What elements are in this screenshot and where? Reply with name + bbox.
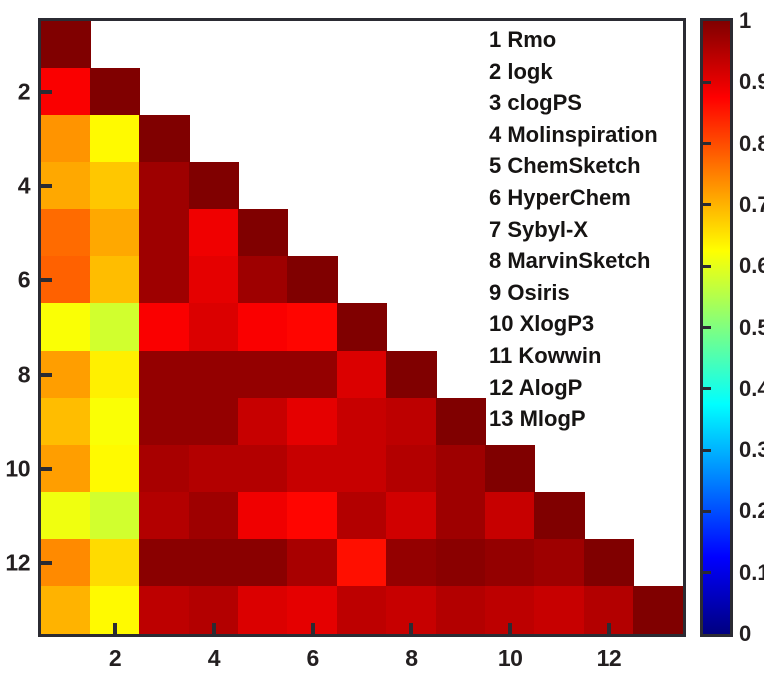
legend-item: 10 XlogP3 xyxy=(489,308,689,340)
colorbar-tick-label: 0.4 xyxy=(739,376,764,402)
heatmap-cell xyxy=(238,398,288,446)
legend-item: 2 logk xyxy=(489,56,689,88)
heatmap-cell xyxy=(436,398,486,446)
legend-item: 6 HyperChem xyxy=(489,182,689,214)
heatmap-cell xyxy=(139,162,189,210)
heatmap-cell xyxy=(337,303,387,351)
y-axis-tick-label: 4 xyxy=(18,173,30,200)
heatmap-cell xyxy=(189,492,239,540)
legend-item: 9 Osiris xyxy=(489,277,689,309)
y-axis-tick-label: 12 xyxy=(5,550,30,577)
colorbar-tick-label: 1 xyxy=(739,8,751,34)
legend-item: 8 MarvinSketch xyxy=(489,245,689,277)
legend-item: 7 Sybyl-X xyxy=(489,214,689,246)
heatmap-cell xyxy=(90,162,140,210)
heatmap-cell xyxy=(90,351,140,399)
heatmap-cell xyxy=(337,351,387,399)
heatmap-cell xyxy=(41,209,91,257)
heatmap-cell xyxy=(287,351,337,399)
colorbar-tick xyxy=(703,326,711,329)
heatmap-cell xyxy=(139,351,189,399)
heatmap-cell xyxy=(436,586,486,634)
heatmap-cell xyxy=(41,21,91,69)
legend-list: 1 Rmo2 logk3 clogPS4 Molinspiration5 Che… xyxy=(489,24,689,435)
x-axis-tick-label: 8 xyxy=(405,645,417,672)
heatmap-cell xyxy=(485,539,535,587)
colorbar-tick xyxy=(703,510,711,513)
heatmap-cell xyxy=(238,303,288,351)
heatmap-cell xyxy=(238,586,288,634)
heatmap-cell xyxy=(386,492,436,540)
heatmap-cell xyxy=(41,303,91,351)
y-axis-tick-label: 6 xyxy=(18,267,30,294)
heatmap-cell xyxy=(139,539,189,587)
heatmap-cell xyxy=(436,539,486,587)
y-axis-tick-label: 2 xyxy=(18,78,30,105)
colorbar-tick-label: 0.1 xyxy=(739,560,764,586)
colorbar-tick-label: 0.3 xyxy=(739,437,764,463)
legend-item: 1 Rmo xyxy=(489,24,689,56)
heatmap-cell xyxy=(485,492,535,540)
heatmap-cell xyxy=(189,539,239,587)
y-axis-tick-label: 10 xyxy=(5,455,30,482)
heatmap-cell xyxy=(534,492,584,540)
heatmap-figure: 24681012 24681012 1 Rmo2 logk3 clogPS4 M… xyxy=(0,0,764,682)
heatmap-cell xyxy=(139,209,189,257)
colorbar-tick-label: 0.9 xyxy=(739,69,764,95)
heatmap-cell xyxy=(238,351,288,399)
heatmap-cell xyxy=(189,303,239,351)
heatmap-cell xyxy=(238,492,288,540)
heatmap-cell xyxy=(287,303,337,351)
colorbar-tick xyxy=(703,449,711,452)
heatmap-cell xyxy=(337,445,387,493)
colorbar-tick-label: 0.6 xyxy=(739,253,764,279)
heatmap-cell xyxy=(90,303,140,351)
heatmap-cell xyxy=(238,539,288,587)
heatmap-cell xyxy=(534,539,584,587)
heatmap-cell xyxy=(633,586,683,634)
legend-item: 5 ChemSketch xyxy=(489,150,689,182)
heatmap-cell xyxy=(337,492,387,540)
heatmap-cell xyxy=(238,445,288,493)
heatmap-cell xyxy=(238,256,288,304)
colorbar-tick xyxy=(703,571,711,574)
heatmap-cell xyxy=(41,492,91,540)
heatmap-cell xyxy=(90,398,140,446)
colorbar-tick-label: 0.7 xyxy=(739,192,764,218)
legend-item: 3 clogPS xyxy=(489,87,689,119)
heatmap-cell xyxy=(337,539,387,587)
heatmap-cell xyxy=(287,256,337,304)
heatmap-cell xyxy=(584,539,634,587)
colorbar-tick xyxy=(703,81,711,84)
y-axis-tick-label: 8 xyxy=(18,361,30,388)
colorbar-tick-label: 0.2 xyxy=(739,498,764,524)
heatmap-cell xyxy=(139,303,189,351)
heatmap-cell xyxy=(238,209,288,257)
colorbar-tick xyxy=(703,265,711,268)
heatmap-cell xyxy=(337,586,387,634)
x-axis-tick-label: 2 xyxy=(109,645,121,672)
heatmap-cell xyxy=(386,351,436,399)
colorbar-tick-label: 0.8 xyxy=(739,131,764,157)
heatmap-cell xyxy=(337,398,387,446)
y-axis-tick xyxy=(41,184,52,188)
x-axis-tick-label: 12 xyxy=(597,645,622,672)
y-axis-tick xyxy=(41,373,52,377)
legend-item: 4 Molinspiration xyxy=(489,119,689,151)
heatmap-cell xyxy=(287,492,337,540)
heatmap-cell xyxy=(189,398,239,446)
y-axis-tick xyxy=(41,561,52,565)
heatmap-cell xyxy=(90,539,140,587)
heatmap-cell xyxy=(139,492,189,540)
x-axis-tick xyxy=(508,623,512,634)
heatmap-cell xyxy=(436,445,486,493)
y-axis-tick xyxy=(41,278,52,282)
x-axis-tick xyxy=(311,623,315,634)
heatmap-cell xyxy=(139,586,189,634)
x-axis-tick xyxy=(113,623,117,634)
heatmap-cell xyxy=(436,492,486,540)
heatmap-cell xyxy=(90,256,140,304)
heatmap-cell xyxy=(287,539,337,587)
colorbar xyxy=(700,18,733,637)
heatmap-cell xyxy=(189,256,239,304)
x-axis-tick-label: 4 xyxy=(208,645,220,672)
heatmap-cell xyxy=(139,445,189,493)
heatmap-cell xyxy=(90,209,140,257)
legend-item: 12 AlogP xyxy=(489,372,689,404)
heatmap-cell xyxy=(90,68,140,116)
heatmap-cell xyxy=(41,586,91,634)
heatmap-cell xyxy=(485,445,535,493)
y-axis-tick xyxy=(41,90,52,94)
heatmap-cell xyxy=(386,445,436,493)
heatmap-cell xyxy=(534,586,584,634)
colorbar-tick xyxy=(703,387,711,390)
heatmap-cell xyxy=(287,398,337,446)
heatmap-cell xyxy=(90,492,140,540)
x-axis-tick xyxy=(409,623,413,634)
heatmap-cell xyxy=(41,115,91,163)
colorbar-tick xyxy=(703,203,711,206)
y-axis-tick xyxy=(41,467,52,471)
heatmap-cell xyxy=(41,398,91,446)
colorbar-tick-label: 0.5 xyxy=(739,315,764,341)
colorbar-tick xyxy=(703,142,711,145)
heatmap-cell xyxy=(189,351,239,399)
heatmap-cell xyxy=(139,398,189,446)
legend-item: 13 MlogP xyxy=(489,403,689,435)
heatmap-cell xyxy=(386,398,436,446)
colorbar-tick-label: 0 xyxy=(739,621,751,647)
x-axis-tick-label: 10 xyxy=(498,645,523,672)
heatmap-cell xyxy=(139,115,189,163)
heatmap-cell xyxy=(139,256,189,304)
x-axis-tick xyxy=(607,623,611,634)
x-axis-tick xyxy=(212,623,216,634)
heatmap-cell xyxy=(90,445,140,493)
x-axis-tick-label: 6 xyxy=(306,645,318,672)
heatmap-cell xyxy=(189,209,239,257)
heatmap-cell xyxy=(189,162,239,210)
heatmap-cell xyxy=(287,445,337,493)
heatmap-cell xyxy=(189,445,239,493)
legend-item: 11 Kowwin xyxy=(489,340,689,372)
heatmap-cell xyxy=(386,539,436,587)
heatmap-cell xyxy=(90,115,140,163)
